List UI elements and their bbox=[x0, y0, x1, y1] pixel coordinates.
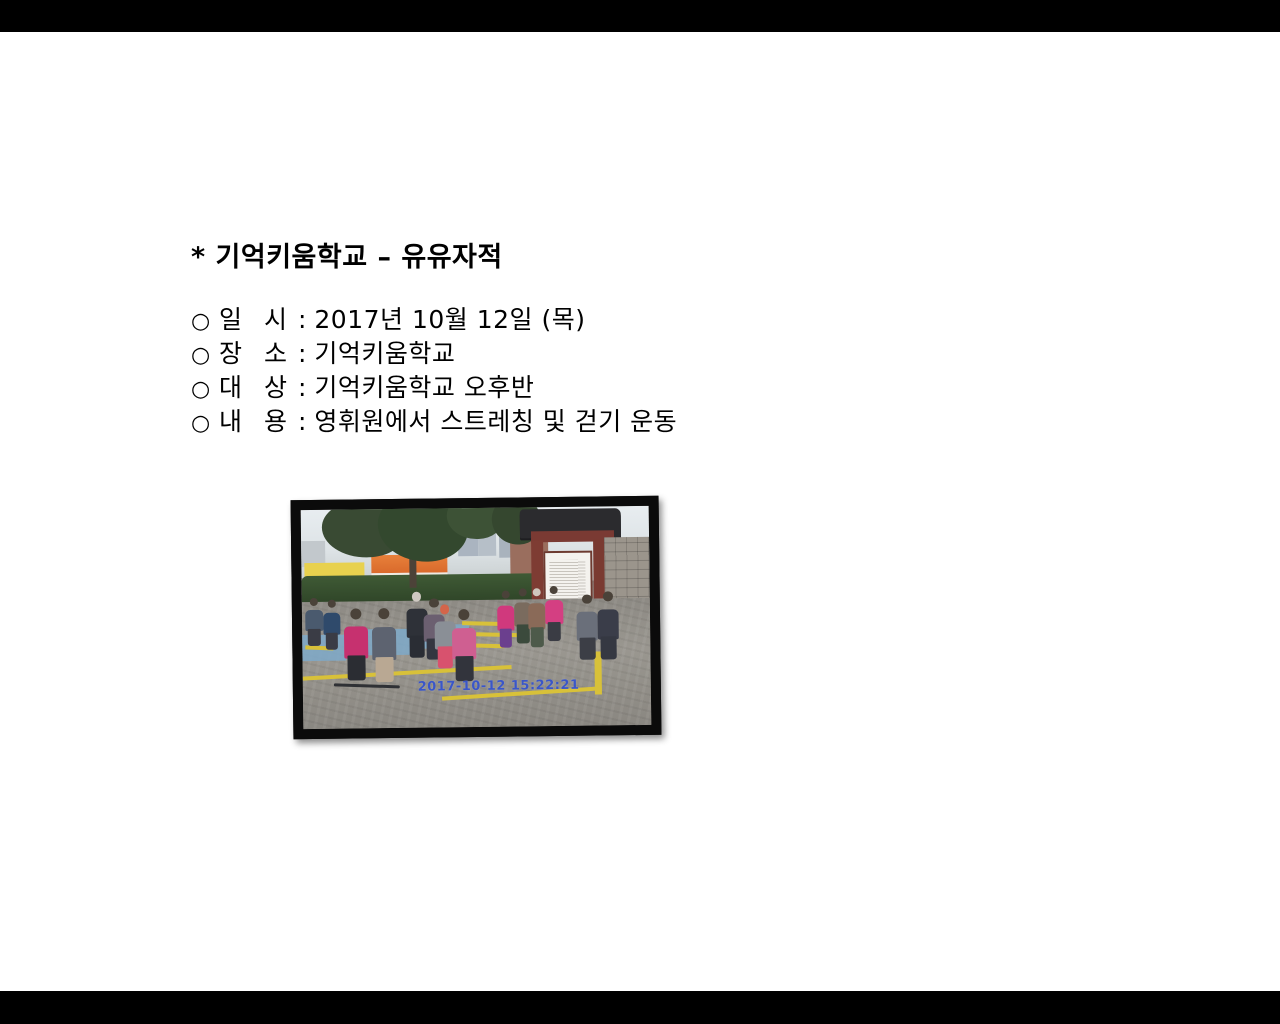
photo-person bbox=[452, 609, 477, 682]
photo-person bbox=[323, 599, 341, 650]
photo-person bbox=[497, 591, 515, 648]
list-item: ○ 대 상 : 기억키움학교 오후반 bbox=[191, 368, 677, 402]
bullet-circle-icon: ○ bbox=[191, 345, 219, 367]
bullet-label: 장 소 bbox=[219, 334, 298, 370]
bullet-value: 영휘원에서 스트레칭 및 걷기 운동 bbox=[314, 402, 677, 438]
letterbox-bottom bbox=[0, 991, 1280, 1024]
bullet-value: 2017년 10월 12일 (목) bbox=[314, 300, 585, 336]
photo-frame: 2017-10-12 15:22:21 bbox=[291, 496, 662, 739]
bullet-circle-icon: ○ bbox=[191, 311, 219, 333]
list-item: ○ 내 용 : 영휘원에서 스트레칭 및 걷기 운동 bbox=[191, 402, 677, 436]
photo-person bbox=[344, 608, 369, 681]
bullet-label: 일 시 bbox=[219, 300, 298, 336]
bullet-value: 기억키움학교 bbox=[314, 334, 455, 370]
activity-photo: 2017-10-12 15:22:21 bbox=[301, 506, 652, 729]
list-item: ○ 일 시 : 2017년 10월 12일 (목) bbox=[191, 300, 677, 334]
bullet-label: 대 상 bbox=[219, 368, 298, 404]
bullet-colon: : bbox=[298, 305, 314, 334]
bullet-colon: : bbox=[298, 407, 314, 436]
photo-timestamp: 2017-10-12 15:22:21 bbox=[418, 678, 580, 695]
page-title: * 기억키움학교 – 유유자적 bbox=[191, 235, 503, 274]
photo-person bbox=[577, 594, 599, 660]
photo-person bbox=[528, 588, 546, 647]
bullet-colon: : bbox=[298, 373, 314, 402]
slide-canvas: * 기억키움학교 – 유유자적 ○ 일 시 : 2017년 10월 12일 (목… bbox=[0, 32, 1280, 991]
photo-person bbox=[305, 597, 323, 645]
list-item: ○ 장 소 : 기억키움학교 bbox=[191, 334, 677, 368]
photo-person bbox=[545, 586, 563, 641]
letterbox-top bbox=[0, 0, 1280, 32]
bullet-label: 내 용 bbox=[219, 402, 298, 438]
bullet-colon: : bbox=[298, 339, 314, 368]
bullet-circle-icon: ○ bbox=[191, 413, 219, 435]
bullet-list: ○ 일 시 : 2017년 10월 12일 (목) ○ 장 소 : 기억키움학교… bbox=[191, 300, 677, 436]
bullet-circle-icon: ○ bbox=[191, 379, 219, 401]
photo-person bbox=[371, 608, 396, 683]
bullet-value: 기억키움학교 오후반 bbox=[314, 368, 534, 404]
photo-person bbox=[597, 592, 619, 660]
